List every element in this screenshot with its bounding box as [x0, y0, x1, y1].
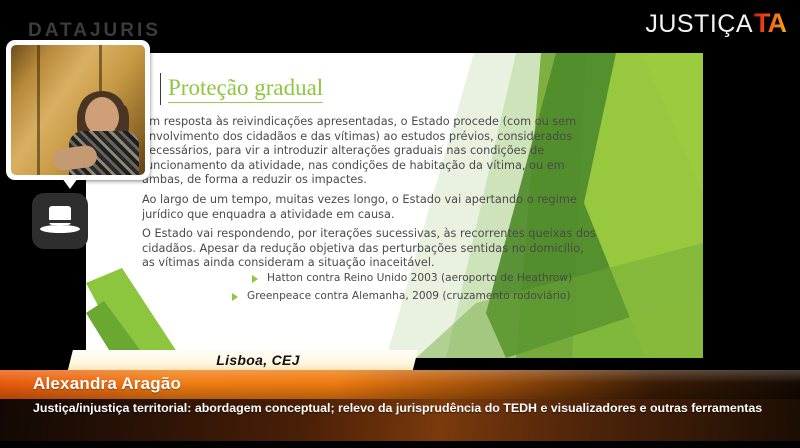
datajuris-watermark: DATAJURIS	[28, 20, 161, 42]
triangle-bullet-icon	[232, 293, 238, 301]
triangle-bullet-icon	[252, 275, 258, 283]
justicatv-logo: JUSTIÇA TA	[645, 8, 786, 39]
logo-word: JUSTIÇA	[645, 10, 753, 39]
title-divider	[160, 73, 161, 105]
list-item: Greenpeace contra Alemanha, 2009 (cruzam…	[232, 290, 592, 302]
list-item: Hatton contra Reino Unido 2003 (aeroport…	[252, 272, 592, 284]
speaker-webcam-overlay[interactable]	[6, 40, 150, 180]
bullet-text: Hatton contra Reino Unido 2003 (aeroport…	[267, 272, 572, 284]
slide-title: Proteção gradual	[168, 75, 323, 101]
webcam-bubble-tail	[62, 178, 78, 189]
bullet-text: Greenpeace contra Alemanha, 2009 (cruzam…	[247, 290, 570, 302]
top-hat-icon[interactable]	[32, 193, 88, 249]
location-label: Lisboa, CEJ	[118, 352, 398, 371]
presentation-slide: Proteção gradual Em resposta às reivindi…	[86, 53, 703, 358]
logo-suffix: TA	[754, 8, 786, 39]
speaker-name: Alexandra Aragão	[33, 374, 181, 394]
slide-bullet-list: Hatton contra Reino Unido 2003 (aeroport…	[232, 272, 592, 308]
video-player-stage: DATAJURIS JUSTIÇA TA Proteção gradual Em…	[0, 0, 800, 448]
bottom-letterbox	[0, 441, 800, 448]
speaker-figure	[69, 91, 139, 175]
webcam-video-frame	[11, 45, 145, 175]
slide-paragraph-1: Em resposta às reivindicações apresentad…	[142, 115, 597, 197]
slide-paragraph-2: Ao largo de um tempo, muitas vezes longo…	[142, 193, 597, 231]
session-subtitle: Justiça/injustiça territorial: abordagem…	[33, 401, 773, 416]
